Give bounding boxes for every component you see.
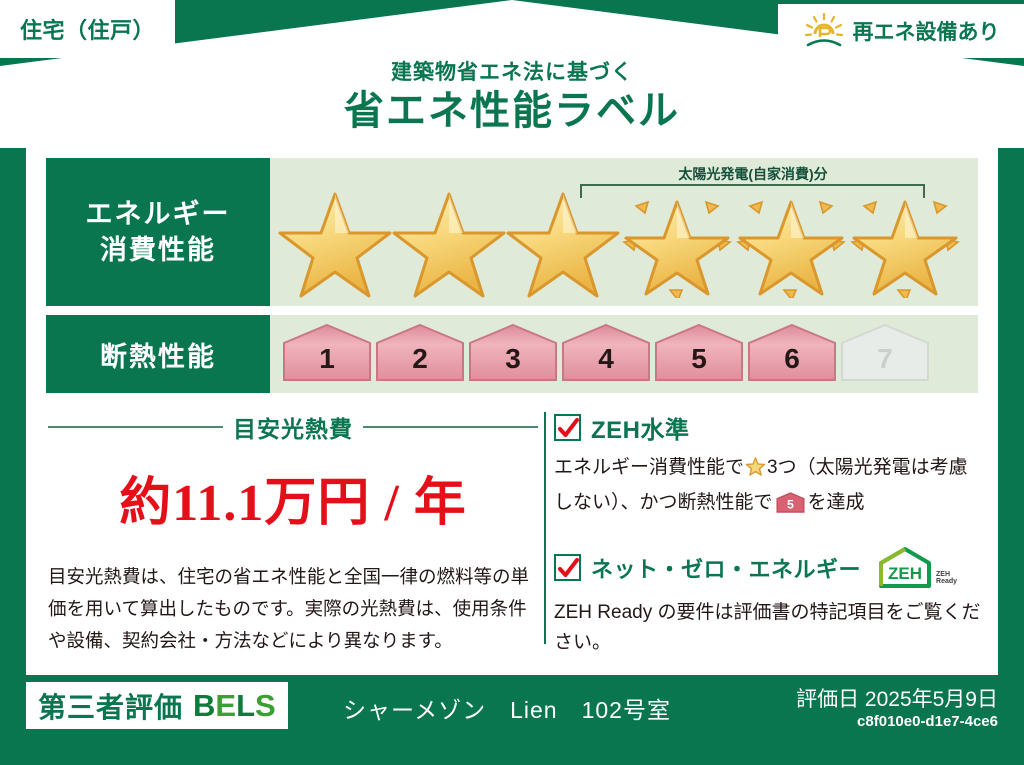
insulation-level-3: 3 [468,323,558,383]
energy-label-line2: 消費性能 [100,232,216,268]
bels-badge: 第三者評価 BELS [26,682,288,729]
insulation-level-5-value: 5 [654,323,744,383]
zeh-standard-body-part1: エネルギー消費性能で [554,457,744,478]
zeh-block: ZEH水準 エネルギー消費性能で3つ（太陽光発電は考慮しない）、かつ断熱性能で5… [554,410,984,659]
zeh-standard-body: エネルギー消費性能で3つ（太陽光発電は考慮しない）、かつ断熱性能で5を達成 [554,453,984,524]
heading-rule-left [48,426,223,428]
performance-section: エネルギー 消費性能 太陽光発電(自家消費)分 [46,158,978,402]
insulation-level-7-value: 7 [840,323,930,383]
utility-cost-value: 約11.1万円 / 年 [48,460,538,535]
insulation-label: 断熱性能 [100,335,216,374]
title-subtitle: 建築物省エネ法に基づく [0,60,1024,85]
zeh-ready-sub-line2: Ready [936,578,957,585]
heading-rule-right [363,426,538,428]
insulation-level-1: 1 [282,323,372,383]
zeh-standard-title: ZEH水準 [591,410,690,445]
energy-stars-panel: 太陽光発電(自家消費)分 [270,158,978,306]
star-icon [506,180,620,298]
svg-text:5: 5 [787,497,794,511]
star-icon-solar [734,180,848,298]
star-icon [392,180,506,298]
check-icon [554,554,581,581]
zeh-ready-sublabel: ZEH Ready [936,571,957,590]
energy-performance-row: エネルギー 消費性能 太陽光発電(自家消費)分 [46,158,978,306]
star-icon [745,461,766,482]
net-zero-body: ZEH Ready の要件は評価書の特記項目をご覧ください。 [554,598,984,660]
dwelling-type-tag: 住宅（住戸） [0,0,175,58]
insulation-level-6-value: 6 [747,323,837,383]
label-footer: 第三者評価 BELS シャーメゾン Lien 102号室 評価日 2025年5月… [0,675,1024,765]
insulation-levels-panel: 1 2 3 [270,315,978,393]
net-zero-title: ネット・ゼロ・エネルギー [591,552,861,584]
energy-label-line1: エネルギー [86,196,231,232]
details-section: 目安光熱費 約11.1万円 / 年 目安光熱費は、住宅の省エネ性能と全国一律の燃… [26,410,998,675]
bels-en-label: BELS [193,688,276,724]
star-icon-solar [620,180,734,298]
zeh-standard-body-part3: を達成 [808,492,865,513]
evaluation-date: 評価日 2025年5月9日 [796,683,998,713]
star-icon-solar [848,180,962,298]
check-icon [554,414,581,441]
dwelling-type-label: 住宅（住戸） [20,13,155,45]
insulation-level-2: 2 [375,323,465,383]
zeh-standard-header: ZEH水準 [554,410,984,445]
insulation-level-4: 4 [561,323,651,383]
star-rating [270,180,978,298]
utility-cost-heading-label: 目安光熱費 [233,410,353,444]
renewable-equipment-tag: 再エネ設備あり [778,4,1024,58]
insulation-level-5: 5 [654,323,744,383]
insulation-level-scale: 1 2 3 [282,323,930,383]
zeh-ready-sub-line1: ZEH [936,571,950,578]
insulation-level-6: 6 [747,323,837,383]
insulation-level-3-value: 3 [468,323,558,383]
energy-performance-label: 住宅（住戸） 再エネ設備あり 建築物省エネ法に [0,0,1024,765]
evaluation-id: c8f010e0-d1e7-4ce6 [857,713,998,730]
insulation-performance-row: 断熱性能 [46,315,978,393]
label-card: エネルギー 消費性能 太陽光発電(自家消費)分 [26,148,998,675]
insulation-level-7: 7 [840,323,930,383]
label-title: 建築物省エネ法に基づく 省エネ性能ラベル [0,60,1024,135]
utility-cost-note: 目安光熱費は、住宅の省エネ性能と全国一律の燃料等の単価を用いて算出したものです。… [48,561,538,656]
renewable-equipment-label: 再エネ設備あり [853,16,1000,46]
utility-cost-heading: 目安光熱費 [48,410,538,444]
zeh-ready-logo: ZEH ZEH Ready [877,546,957,590]
utility-cost-block: 目安光熱費 約11.1万円 / 年 目安光熱費は、住宅の省エネ性能と全国一律の燃… [48,410,538,656]
bels-jp-label: 第三者評価 [38,686,183,726]
insulation-performance-label-box: 断熱性能 [46,315,270,393]
insulation-level-2-value: 2 [375,323,465,383]
energy-performance-label-box: エネルギー 消費性能 [46,158,270,306]
svg-text:ZEH: ZEH [888,564,922,583]
building-name: シャーメゾン Lien 102号室 [343,691,671,725]
title-main: 省エネ性能ラベル [0,87,1024,135]
insulation-level-inline-badge: 5 [776,497,805,518]
insulation-level-4-value: 4 [561,323,651,383]
sun-solar-icon [803,12,845,50]
insulation-level-1-value: 1 [282,323,372,383]
star-icon [278,180,392,298]
net-zero-header: ネット・ゼロ・エネルギー ZEH ZEH Ready [554,546,984,590]
details-divider [544,412,546,644]
